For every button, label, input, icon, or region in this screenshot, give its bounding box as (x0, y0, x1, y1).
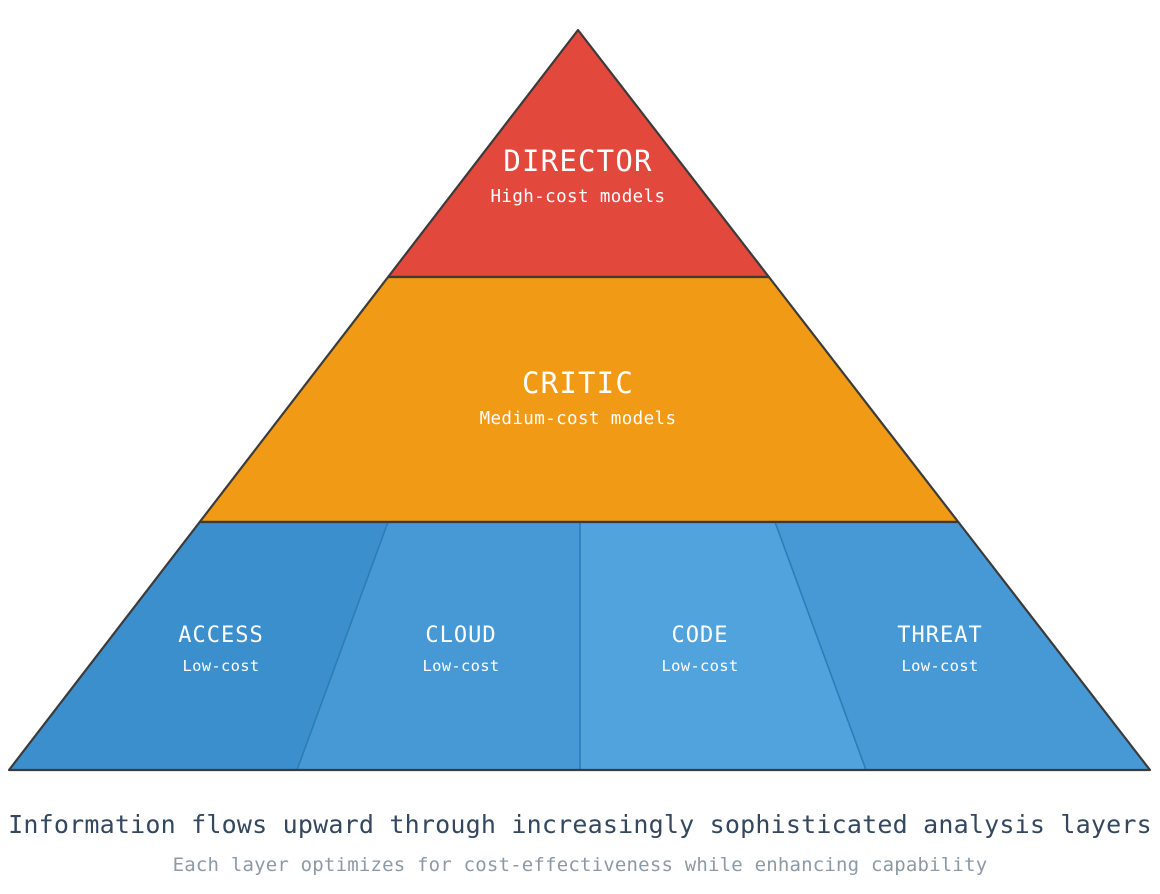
director-subtitle: High-cost models (491, 187, 666, 207)
pyramid-diagram-canvas: DIRECTOR High-cost models CRITIC Medium-… (0, 0, 1160, 894)
code-subtitle: Low-cost (661, 657, 738, 675)
access-subtitle: Low-cost (182, 657, 259, 675)
caption-sub: Each layer optimizes for cost-effectiven… (173, 854, 988, 876)
critic-subtitle: Medium-cost models (480, 409, 677, 429)
caption-main: Information flows upward through increas… (8, 810, 1152, 839)
director-title: DIRECTOR (503, 144, 652, 178)
cloud-title: CLOUD (425, 623, 496, 648)
pyramid-figure: DIRECTOR High-cost models CRITIC Medium-… (0, 0, 1160, 894)
critic-title: CRITIC (522, 366, 634, 400)
pyramid-layer-director[interactable]: DIRECTOR High-cost models (388, 30, 769, 277)
threat-title: THREAT (897, 623, 982, 648)
cloud-subtitle: Low-cost (422, 657, 499, 675)
pyramid-layer-base[interactable]: ACCESS Low-cost CLOUD Low-cost CODE Low-… (9, 522, 1150, 770)
pyramid-layer-critic[interactable]: CRITIC Medium-cost models (200, 277, 959, 522)
access-title: ACCESS (178, 623, 263, 648)
threat-subtitle: Low-cost (901, 657, 978, 675)
code-title: CODE (672, 623, 729, 648)
